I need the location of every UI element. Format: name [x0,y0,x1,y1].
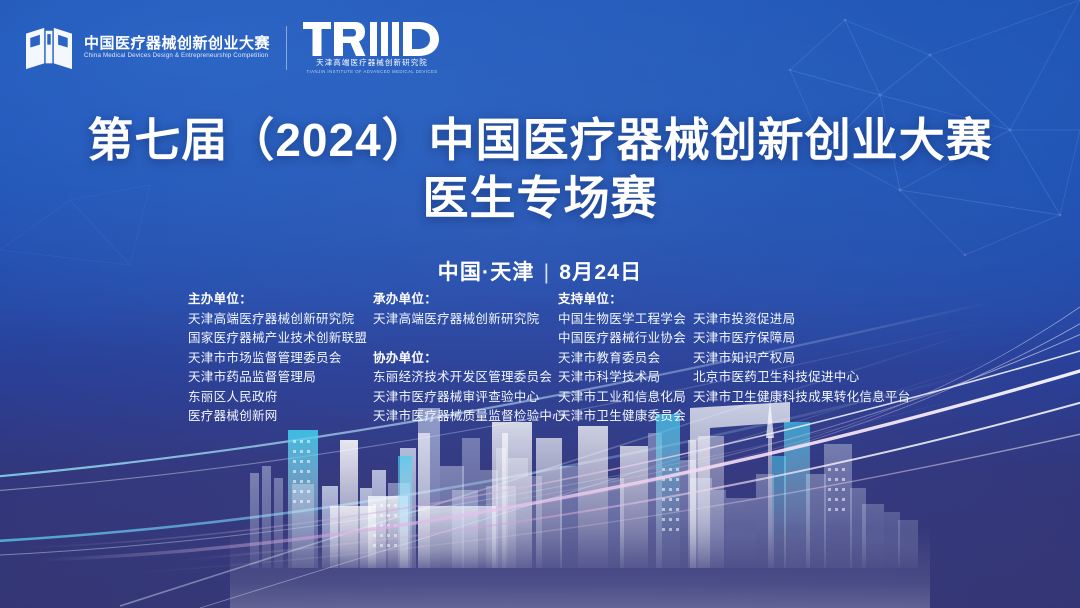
section-spacer [373,329,558,349]
organization-item: 天津市医疗器械审评查验中心 [373,388,558,408]
institute-logo: 天津高端医疗器械创新研究院 TIANJIN INSTITUTE OF ADVAN… [303,22,441,74]
subtitle-separator: | [544,261,551,285]
organization-item: 天津市医疗器械质量监督检验中心 [373,407,558,427]
event-poster: 中国医疗器械创新创业大赛 China Medical Devices Desig… [0,0,1080,608]
event-date: 8月24日 [559,261,642,284]
open-door-book-logo-mark-icon [24,25,74,71]
organization-item: 天津市教育委员会 [558,349,693,369]
organization-item: 中国生物医学工程学会 [558,310,693,330]
title-line-2: 医生专场赛 [0,170,1080,228]
organizations-block: 主办单位： 天津高端医疗器械创新研究院 国家医疗器械产业技术创新联盟 天津市市场… [188,290,911,427]
organizer-column-2: 承办单位： 天津高端医疗器械创新研究院 协办单位： 东丽经济技术开发区管理委员会… [373,290,558,427]
organization-item: 东丽经济技术开发区管理委员会 [373,368,558,388]
organization-item: 天津市工业和信息化局 [558,388,693,408]
header-logos: 中国医疗器械创新创业大赛 China Medical Devices Desig… [24,22,441,74]
organization-item: 天津高端医疗器械创新研究院 [373,310,558,330]
organizer-column-4: 天津市投资促进局 天津市医疗保障局 天津市知识产权局 北京市医药卫生科技促进中心… [693,290,911,407]
event-location: 中国·天津 [438,261,535,284]
organization-item: 天津市卫生健康科技成果转化信息平台 [693,388,911,408]
institute-name-en: TIANJIN INSTITUTE OF ADVANCED MEDICAL DE… [306,70,437,74]
competition-name-cn: 中国医疗器械创新创业大赛 [84,36,270,51]
organization-item: 天津市投资促进局 [693,310,911,330]
organization-item: 天津高端医疗器械创新研究院 [188,310,373,330]
competition-logo: 中国医疗器械创新创业大赛 China Medical Devices Desig… [24,25,270,71]
page-title: 第七届（2024）中国医疗器械创新创业大赛 医生专场赛 [0,112,1080,228]
event-location-date: 中国·天津|8月24日 [0,256,1080,286]
organizer-column-3: 支持单位： 中国生物医学工程学会 中国医疗器械行业协会 天津市教育委员会 天津市… [558,290,693,427]
organization-item: 天津市知识产权局 [693,349,911,369]
title-line-1: 第七届（2024）中国医疗器械创新创业大赛 [0,112,1080,170]
organization-item: 国家医疗器械产业技术创新联盟 [188,329,373,349]
organization-item: 医疗器械创新网 [188,407,373,427]
organization-item: 天津市卫生健康委员会 [558,407,693,427]
section-heading: 承办单位： [373,290,558,310]
section-heading: 协办单位： [373,349,558,369]
section-heading: 支持单位： [558,290,693,310]
organization-item: 天津市药品监督管理局 [188,368,373,388]
organizer-column-1: 主办单位： 天津高端医疗器械创新研究院 国家医疗器械产业技术创新联盟 天津市市场… [188,290,373,427]
organization-item: 北京市医药卫生科技促进中心 [693,368,911,388]
organization-item: 天津市医疗保障局 [693,329,911,349]
competition-name-en: China Medical Devices Design & Entrepren… [84,53,270,60]
logo-divider [286,26,287,70]
competition-logo-text: 中国医疗器械创新创业大赛 China Medical Devices Desig… [84,36,270,59]
organization-item: 中国医疗器械行业协会 [558,329,693,349]
trimd-wordmark-icon [303,22,441,56]
organization-item: 天津市市场监督管理委员会 [188,349,373,369]
section-heading: 主办单位： [188,290,373,310]
institute-name-cn: 天津高端医疗器械创新研究院 [316,59,428,67]
organization-item: 天津市科学技术局 [558,368,693,388]
organization-item: 东丽区人民政府 [188,388,373,408]
